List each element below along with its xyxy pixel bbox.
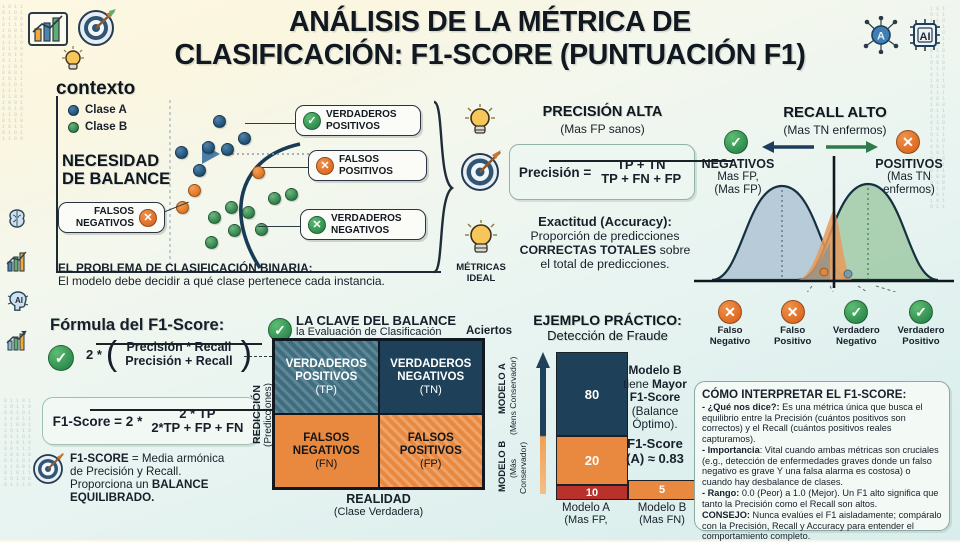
cell-line2: NEGATIVOS [293, 445, 360, 457]
cell-abbr: (FN) [315, 458, 337, 470]
title-line-2: CLASIFICACIÓN: F1-SCORE (PUNTUACIÓN F1) [80, 39, 900, 72]
paren-open: ( [106, 341, 117, 368]
cross-icon: ✕ [781, 300, 805, 324]
xtick-label: Modelo B [624, 502, 700, 514]
axis-bottom-line1: REALIDAD [272, 492, 485, 506]
accuracy-line2-bold: CORRECTAS TOTALES [520, 243, 657, 257]
accuracy-line2-rest: sobre [656, 243, 690, 257]
chart-f1-score-callout: F1-Score (A) ≈ 0.83 [612, 436, 698, 466]
cell-line2: NEGATIVOS [397, 371, 464, 383]
matrix-cell-fn[interactable]: FALSOSNEGATIVOS (FN) [274, 414, 379, 488]
f1-formula-box: F1-Score = 2 * 2 * TP 2*TP + FP + FN [42, 397, 258, 445]
legend-label: Clase B [85, 121, 127, 133]
cell-abbr: (TP) [316, 384, 337, 396]
f1-formula-label: F1-Score = 2 * [53, 414, 143, 429]
cell-line1: FALSOS [303, 432, 349, 444]
cross-icon: ✕ [718, 300, 742, 324]
bar-modelo-a-base[interactable]: 10 [556, 485, 628, 500]
bar-chart-icon [26, 10, 70, 48]
axis-bottom-line2: (Clase Verdadera) [272, 506, 485, 518]
binary-problem-note: EL PROBLEMA DE CLASIFICACIÓN BINARIA: El… [58, 262, 385, 289]
precision-formula-box: Precisión = TP + TN TP + FN + FP [509, 144, 695, 200]
class-b-dot [68, 122, 79, 133]
outcome-line1: Falso [780, 325, 805, 336]
f1-note: F1-SCORE = Media armónica de Precisión y… [70, 452, 265, 504]
outcome-badges-row: ✕ FalsoNegativo ✕ FalsoPositivo ✓ Verdad… [700, 300, 952, 347]
axis-modelo-a-label: MODELO A [497, 364, 508, 415]
aciertos-label: Aciertos [466, 325, 512, 337]
chart-axis-modelo-b: MODELO B [497, 432, 508, 500]
confusion-matrix: VERDADEROSPOSITIVOS (TP) VERDADEROSNEGAT… [272, 338, 485, 490]
matrix-cell-tn[interactable]: VERDADEROSNEGATIVOS (TN) [379, 340, 484, 414]
matrix-axis-left: REDICCIÓN [252, 352, 263, 478]
callout-line1: FALSOS [94, 206, 134, 217]
xtick-note: (Mas FP, [548, 514, 624, 526]
annotation-line1: Modelo B [614, 364, 696, 378]
outcome-falso-negativo: ✕ FalsoNegativo [700, 300, 760, 347]
callout-line2: POSITIVOS [326, 121, 380, 132]
callout-line1: FALSOS [339, 154, 379, 165]
fraction-denominator: Precisión + Recall [121, 355, 236, 368]
check-icon: ✓ [909, 300, 933, 324]
f1-note-line1: = Media armónica [129, 452, 225, 465]
legend: Clase A Clase B [68, 104, 127, 133]
harmonic-fraction: Precisión * Recall Precisión + Recall [121, 341, 236, 367]
interpret-p4: CONSEJO: Nunca evalúes el F1 aisladament… [702, 510, 942, 542]
chart-title: EJEMPLO PRÁCTICO: [520, 312, 695, 328]
lightbulb-icon [462, 102, 498, 140]
connector-fp [262, 167, 311, 168]
cell-line2: POSITIVOS [400, 445, 462, 457]
precision-fraction: TP + TN TP + FN + FP [597, 158, 685, 185]
target-icon [460, 146, 504, 194]
target-icon [32, 450, 66, 484]
chart-y-axis-arrow [536, 352, 550, 496]
cell-line1: VERDADEROS [286, 358, 367, 370]
f1-fraction: 2 * TP 2*TP + FP + FN [147, 407, 247, 434]
cell-line1: FALSOS [408, 432, 454, 444]
outcome-line2: Negativo [836, 336, 877, 347]
xtick-modelo-b: Modelo B (Mas FN) [624, 502, 700, 526]
title-line-1: ANÁLISIS DE LA MÉTRICA DE [80, 6, 900, 39]
formula-title: Fórmula del F1-Score: [50, 316, 224, 335]
fraud-chart-xticks: Modelo A (Mas FP, Modelo B (Mas FN) [548, 502, 700, 526]
precision-subheading: (Mas FP sanos) [500, 122, 705, 136]
f1-note-line3: Proporciona un [70, 478, 152, 491]
chart-subtitle: Detección de Fraude [520, 328, 695, 343]
annotation-line2-pre: tiene [623, 377, 652, 391]
interpret-p2: - Importancia: Vital cuando ambas métric… [702, 445, 942, 487]
precision-formula-label: Precisión = [519, 165, 591, 180]
axis-modelo-b-label: MODELO B [497, 440, 508, 491]
xtick-note: (Mas FN) [624, 514, 700, 526]
matrix-subtitle: la Evaluación de Clasificación [296, 326, 442, 338]
bar-value-label: 80 [585, 387, 599, 402]
cross-icon: ✕ [139, 209, 157, 227]
bar-modelo-b[interactable]: 5 [628, 480, 696, 500]
ai-chip-icon: AI [906, 16, 944, 54]
outcome-line2: Negativo [710, 336, 751, 347]
page-title: ANÁLISIS DE LA MÉTRICA DE CLASIFICACIÓN:… [80, 6, 900, 72]
fraction-denominator: 2*TP + FP + FN [147, 421, 247, 435]
connector-tn [258, 226, 304, 227]
legend-item-clase-b: Clase B [68, 121, 127, 133]
chart-annotation: Modelo B tiene Mayor F1-Score (Balance Ó… [614, 364, 696, 432]
interpret-p2-bold: - Importancia [702, 445, 760, 455]
outcome-line1: Verdadero [898, 325, 945, 336]
cell-line2: POSITIVOS [295, 371, 357, 383]
callout-falsos-positivos[interactable]: ✕ FALSOSPOSITIVOS [308, 150, 427, 181]
axis-modelo-b-note: (Más Conservador) [508, 442, 528, 494]
outcome-line1: Falso [717, 325, 742, 336]
xtick-label: Modelo A [548, 502, 624, 514]
callout-verdaderos-positivos[interactable]: ✓ VERDADEROSPOSITIVOS [295, 105, 421, 136]
outcome-line2: Positivo [902, 336, 939, 347]
fraud-chart-title: EJEMPLO PRÁCTICO: Detección de Fraude [520, 312, 695, 343]
formula-prefix: 2 * [86, 347, 102, 362]
callout-line2: POSITIVOS [339, 166, 393, 177]
connector-tp [245, 123, 297, 124]
distribution-curves-chart [690, 150, 958, 292]
accuracy-line3: el total de predicciones. [505, 257, 705, 271]
cross-icon: ✕ [308, 216, 326, 234]
cross-icon: ✕ [316, 157, 334, 175]
ai-head-icon: AI [4, 288, 32, 316]
svg-text:AI: AI [15, 296, 23, 305]
callout-line1: VERDADEROS [326, 109, 397, 120]
f1-note-line2: de Precisión y Recall. [70, 465, 265, 478]
annotation-line5: Óptimo). [614, 418, 696, 432]
interpret-p1-bold: - ¿Qué nos dice?: [702, 402, 780, 412]
fraction-denominator: TP + FN + FP [597, 172, 685, 186]
callout-falsos-negativos[interactable]: FALSOSNEGATIVOS ✕ [58, 202, 165, 233]
outcome-verdadero-negativo: ✓ VerdaderoNegativo [825, 300, 887, 347]
callout-verdaderos-negativos[interactable]: ✕ VERDADEROSNEGATIVOS [300, 209, 426, 240]
chart-axis-modelo-b-note: (Más Conservador) [508, 432, 528, 504]
recall-heading: RECALL ALTO [740, 104, 930, 121]
problem-text: El modelo debe decidir a qué clase perte… [58, 275, 385, 288]
annotation-line4: (Balance [614, 405, 696, 419]
accuracy-title: Exactitud (Accuracy): [505, 214, 705, 229]
bar-value-label: 10 [586, 487, 598, 499]
code-texture-left: 1 0 1 1 0 1 0 1 1 1 0 0 0 1 1 0 1 0 0 1 … [2, 4, 23, 142]
harmonic-formula: 2 * ( Precisión * Recall Precisión + Rec… [86, 341, 252, 368]
check-icon: ✓ [303, 112, 321, 130]
code-texture-bottom-left: 0 1 1 0 1 1 0 1 1 0 0 0 1 0 1 1 1 0 1 1 … [4, 398, 31, 488]
outcome-verdadero-positivo: ✓ VerdaderoPositivo [890, 300, 952, 347]
metrics-label-line2: IDEAL [450, 274, 512, 285]
interpret-box: CÓMO INTERPRETAR EL F1-SCORE: - ¿Qué nos… [694, 381, 950, 531]
axis-modelo-a-note: (Mens Conservador) [508, 357, 518, 435]
bar-value-label: 20 [585, 453, 599, 468]
outcome-line1: Verdadero [833, 325, 880, 336]
interpret-p3-bold: - Rango: [702, 488, 739, 498]
score-line1: F1-Score [612, 436, 698, 451]
xtick-modelo-a: Modelo A (Mas FP, [548, 502, 624, 526]
chart-growth-icon [4, 328, 30, 354]
f1-note-line4-bold: EQUILIBRADO. [70, 491, 154, 504]
metrics-label-line1: MÉTRICAS [450, 263, 512, 274]
interpret-title: CÓMO INTERPRETAR EL F1-SCORE: [702, 388, 942, 401]
score-line2: (A) ≈ 0.83 [612, 451, 698, 466]
accuracy-block: Exactitud (Accuracy): Proporción de pred… [505, 214, 705, 271]
brain-icon [4, 206, 30, 232]
matrix-axis-bottom: REALIDAD (Clase Verdadera) [272, 492, 485, 518]
paren-close: ) [241, 341, 252, 368]
bar-value-label: 5 [659, 484, 665, 496]
annotation-line2-bold: Mayor [652, 377, 687, 391]
matrix-cell-tp[interactable]: VERDADEROSPOSITIVOS (TP) [274, 340, 379, 414]
class-a-dot [68, 105, 79, 116]
legend-item-clase-a: Clase A [68, 104, 127, 116]
brace-icon [430, 100, 456, 275]
check-icon: ✓ [48, 345, 74, 371]
callout-line2: NEGATIVOS [331, 225, 389, 236]
lightbulb-icon [462, 218, 500, 260]
problem-title: EL PROBLEMA DE CLASIFICACIÓN BINARIA: [58, 262, 385, 275]
chart-axis-modelo-a-note: (Mens Conservador) [508, 356, 518, 436]
axis-left-line1: REDICCIÓN [251, 386, 263, 445]
cell-abbr: (FP) [420, 458, 441, 470]
f1-note-line3-bold: BALANCE [152, 478, 209, 491]
interpret-p1: - ¿Qué nos dice?: Es una métrica única q… [702, 402, 942, 444]
callout-line2: NEGATIVOS [76, 218, 134, 229]
matrix-cell-fp[interactable]: FALSOSPOSITIVOS (FP) [379, 414, 484, 488]
f1-note-bold: F1-SCORE [70, 452, 129, 465]
cell-abbr: (TN) [420, 384, 442, 396]
precision-heading: PRECISIÓN ALTA [500, 104, 705, 120]
legend-label: Clase A [85, 104, 127, 116]
interpret-p4-bold: CONSEJO: [702, 510, 750, 520]
callout-line1: VERDADEROS [331, 213, 402, 224]
outcome-falso-positivo: ✕ FalsoPositivo [763, 300, 823, 347]
cell-line1: VERDADEROS [390, 358, 471, 370]
accuracy-line1: Proporción de predicciones [505, 229, 705, 243]
svg-text:AI: AI [920, 31, 931, 43]
chart-axis-modelo-a: MODELO A [497, 356, 508, 422]
check-icon: ✓ [844, 300, 868, 324]
outcome-line2: Positivo [774, 336, 811, 347]
interpret-p3: - Rango: 0.0 (Peor) a 1.0 (Mejor). Un F1… [702, 488, 942, 509]
annotation-line3: F1-Score [614, 391, 696, 405]
metrics-ideal-label: MÉTRICAS IDEAL [450, 263, 512, 284]
bar-chart-icon-side [4, 248, 30, 274]
